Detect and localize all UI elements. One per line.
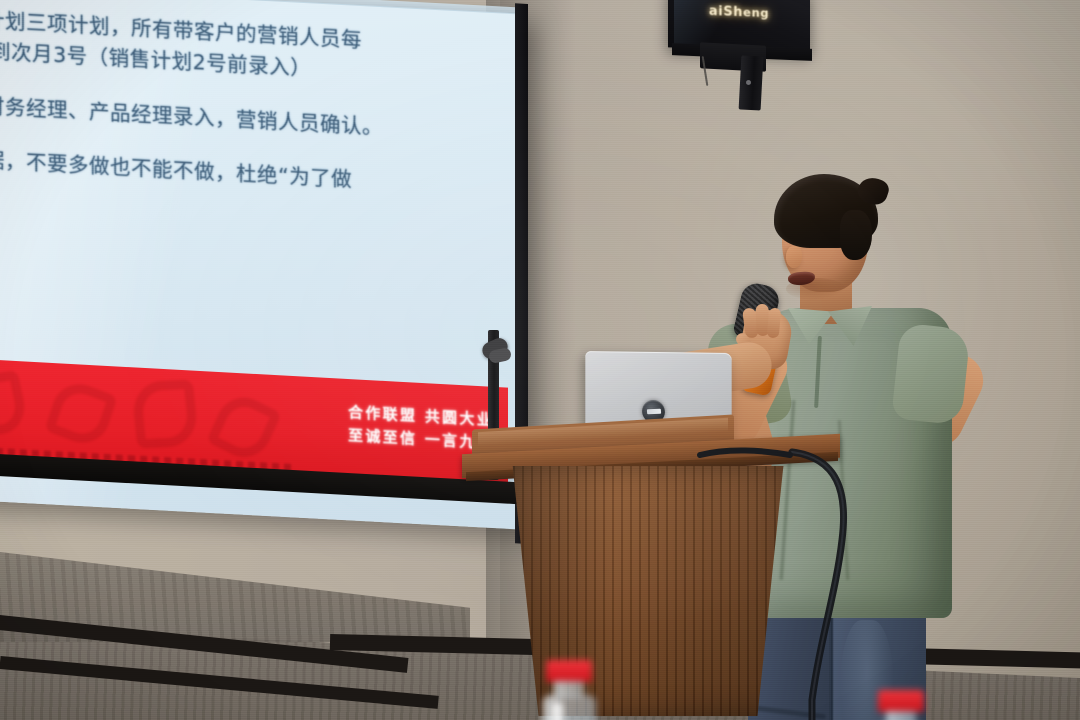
bottle-body [543,695,596,720]
slide-text-block: 划、推进计划三项计划，所有带客户的营销人员每 月底25号到次月3号（销售计划2号… [0,2,460,203]
display-brand-suffix: eng [743,5,769,20]
bottle-highlight [552,702,563,720]
water-bottle-front-left [546,660,602,720]
display-mount-arm [739,55,764,110]
display-brand-prefix: aiSh [709,4,743,20]
photo-canvas: 划、推进计划三项计划，所有带客户的营销人员每 月底25号到次月3号（销售计划2号… [0,0,1080,720]
speaker-nose [786,246,802,268]
speaker-hair-side [840,210,872,260]
speaker-right-sleeve [891,323,971,426]
water-bottle-front-right [878,690,934,720]
bottle-cap [878,690,924,712]
bottle-cap [546,660,592,682]
jeans-seam [830,602,833,720]
display-mount-pin [746,80,751,85]
bottle-neck [886,711,916,720]
